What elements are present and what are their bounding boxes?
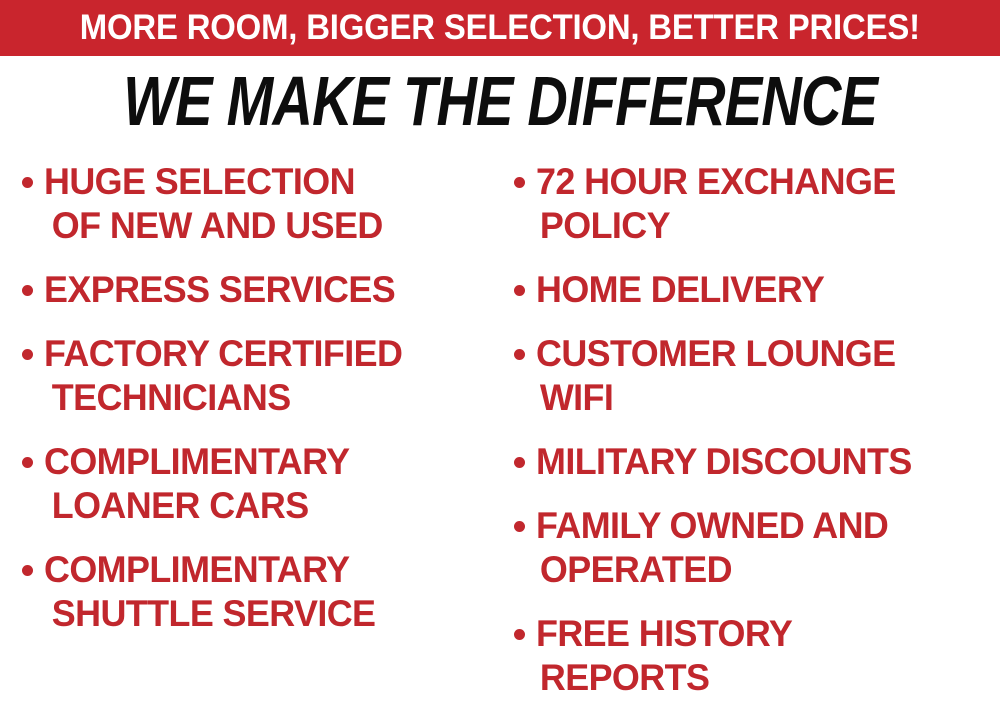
list-item-label: FAMILY OWNED AND OPERATED — [536, 504, 888, 592]
list-item: CUSTOMER LOUNGE WIFI — [514, 332, 1000, 420]
list-item: MILITARY DISCOUNTS — [514, 440, 1000, 484]
list-item-line1: MILITARY DISCOUNTS — [536, 441, 912, 482]
main-headline-area: WE MAKE THE DIFFERENCE — [0, 62, 1000, 140]
bullet-dot-icon — [22, 349, 33, 360]
list-item-label: 72 HOUR EXCHANGE POLICY — [536, 160, 896, 248]
bullet-dot-icon — [514, 349, 525, 360]
list-item-line2: TECHNICIANS — [44, 376, 402, 420]
list-item: EXPRESS SERVICES — [22, 268, 500, 312]
list-item: FAMILY OWNED AND OPERATED — [514, 504, 1000, 592]
dealership-promo-banner: MORE ROOM, BIGGER SELECTION, BETTER PRIC… — [0, 0, 1000, 694]
bullet-dot-icon — [514, 457, 525, 468]
bullet-dot-icon — [514, 177, 525, 188]
list-item: HUGE SELECTION OF NEW AND USED — [22, 160, 500, 248]
bullet-dot-icon — [22, 565, 33, 576]
list-item-line1: FREE HISTORY — [536, 613, 792, 654]
list-item-line1: FACTORY CERTIFIED — [44, 333, 402, 374]
list-item-label: CUSTOMER LOUNGE WIFI — [536, 332, 896, 420]
list-item-line1: FAMILY OWNED AND — [536, 505, 888, 546]
list-item-line2: OF NEW AND USED — [44, 204, 383, 248]
list-item-line2: POLICY — [536, 204, 896, 248]
list-item-label: EXPRESS SERVICES — [44, 268, 395, 312]
bullet-dot-icon — [514, 521, 525, 532]
list-item-label: FREE HISTORY REPORTS — [536, 612, 792, 700]
page-title: WE MAKE THE DIFFERENCE — [123, 65, 877, 137]
list-item-line2: REPORTS — [536, 656, 792, 700]
bullet-dot-icon — [22, 457, 33, 468]
list-item: HOME DELIVERY — [514, 268, 1000, 312]
list-item-label: COMPLIMENTARY SHUTTLE SERVICE — [44, 548, 375, 636]
list-item: COMPLIMENTARY SHUTTLE SERVICE — [22, 548, 500, 636]
list-item-line1: COMPLIMENTARY — [44, 441, 349, 482]
list-item: FACTORY CERTIFIED TECHNICIANS — [22, 332, 500, 420]
benefits-columns: HUGE SELECTION OF NEW AND USED EXPRESS S… — [0, 160, 1000, 694]
list-item-line1: HOME DELIVERY — [536, 269, 824, 310]
list-item-label: HOME DELIVERY — [536, 268, 824, 312]
list-item-line1: HUGE SELECTION — [44, 161, 355, 202]
list-item-line2: SHUTTLE SERVICE — [44, 592, 375, 636]
list-item-label: COMPLIMENTARY LOANER CARS — [44, 440, 349, 528]
list-item-label: FACTORY CERTIFIED TECHNICIANS — [44, 332, 402, 420]
list-item: FREE HISTORY REPORTS — [514, 612, 1000, 700]
bullet-dot-icon — [514, 285, 525, 296]
banner-strip-text: MORE ROOM, BIGGER SELECTION, BETTER PRIC… — [80, 10, 920, 46]
list-item-line1: 72 HOUR EXCHANGE — [536, 161, 896, 202]
list-item-line2: WIFI — [536, 376, 896, 420]
list-item-line1: COMPLIMENTARY — [44, 549, 349, 590]
top-red-banner-strip: MORE ROOM, BIGGER SELECTION, BETTER PRIC… — [0, 0, 1000, 56]
list-item-line2: LOANER CARS — [44, 484, 349, 528]
bullet-dot-icon — [22, 177, 33, 188]
list-item-line1: EXPRESS SERVICES — [44, 269, 395, 310]
list-item-label: MILITARY DISCOUNTS — [536, 440, 912, 484]
list-item-line1: CUSTOMER LOUNGE — [536, 333, 896, 374]
list-item-label: HUGE SELECTION OF NEW AND USED — [44, 160, 383, 248]
bullet-dot-icon — [22, 285, 33, 296]
list-item: COMPLIMENTARY LOANER CARS — [22, 440, 500, 528]
list-item: 72 HOUR EXCHANGE POLICY — [514, 160, 1000, 248]
bullet-dot-icon — [514, 629, 525, 640]
benefits-column-right: 72 HOUR EXCHANGE POLICY HOME DELIVERY CU… — [500, 160, 1000, 720]
list-item-line2: OPERATED — [536, 548, 888, 592]
benefits-column-left: HUGE SELECTION OF NEW AND USED EXPRESS S… — [0, 160, 500, 656]
